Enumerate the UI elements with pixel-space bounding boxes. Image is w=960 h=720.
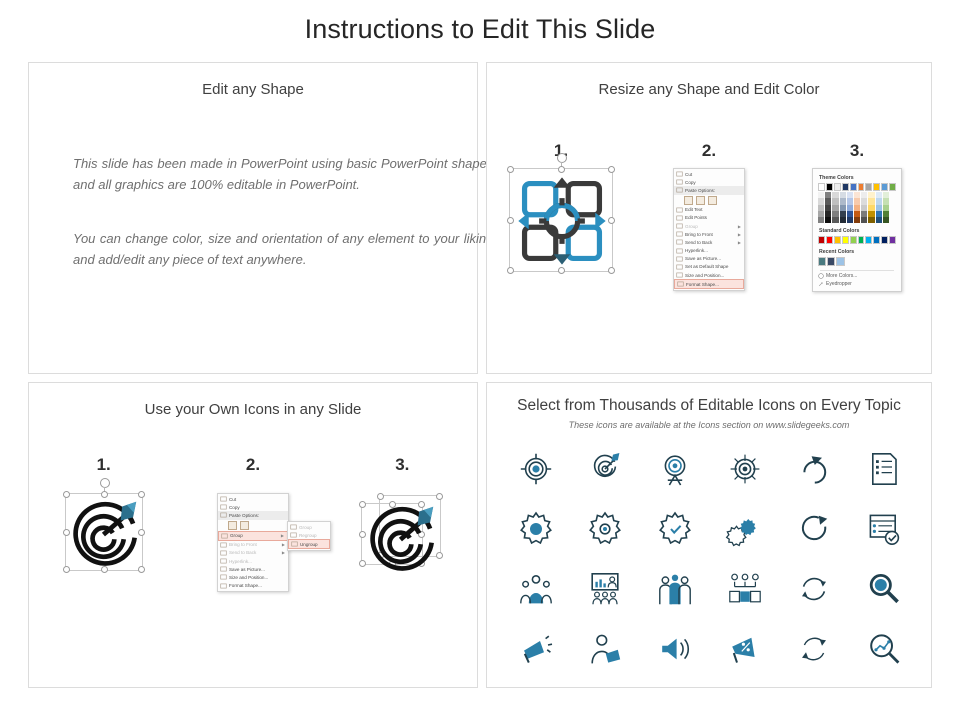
menu-item-ungroup[interactable]: Ungroup <box>288 539 330 549</box>
theme-color-column[interactable] <box>847 192 853 223</box>
icon-cell[interactable] <box>585 449 625 494</box>
standard-color-swatch[interactable] <box>865 236 872 244</box>
slide-canvas: Instructions to Edit This Slide Edit any… <box>0 0 960 720</box>
resize-handle[interactable] <box>507 217 514 224</box>
resize-step-figures: CutCopyPaste Options:Edit TextEdit Point… <box>487 168 931 292</box>
powerpoint-context-menu[interactable]: CutCopyPaste Options:Group▶Bring to Fron… <box>217 493 289 592</box>
resize-handle[interactable] <box>101 566 108 573</box>
menu-item-label: Group <box>299 525 327 530</box>
cycle-arrows-thin-icon <box>794 629 834 669</box>
menu-item-label: Size and Position... <box>229 575 285 580</box>
menu-item-format-shape[interactable]: Format Shape... <box>674 279 744 289</box>
panel-editable-icons: Select from Thousands of Editable Icons … <box>486 382 932 688</box>
paste-option-icon[interactable] <box>708 196 717 205</box>
panel-title-own-icons: Use your Own Icons in any Slide <box>29 401 477 418</box>
theme-color-swatch[interactable] <box>854 217 860 223</box>
color-picker-panel[interactable]: Theme Colors Standard Colors Recent Colo… <box>812 168 902 292</box>
menu-item-label: Hyperlink... <box>685 248 741 253</box>
panel-resize-shape-edit-color: Resize any Shape and Edit Color 1. 2. 3. <box>486 62 932 374</box>
icon-cell[interactable] <box>585 569 625 614</box>
refresh-circle-icon <box>794 509 834 549</box>
recent-colors-label: Recent Colors <box>819 249 896 255</box>
ungrouped-selection-group[interactable] <box>357 493 447 579</box>
submenu-arrow-icon: ▶ <box>281 533 284 538</box>
theme-color-column[interactable] <box>818 192 824 223</box>
save-picture-icon <box>676 256 683 262</box>
theme-color-swatch[interactable] <box>881 183 888 191</box>
panel-use-own-icons: Use your Own Icons in any Slide 1. 2. 3. <box>28 382 478 688</box>
menu-item-label: Paste Options: <box>685 188 741 193</box>
resize-handle[interactable] <box>608 267 615 274</box>
group-icon <box>676 223 683 229</box>
gear-outline-icon <box>585 509 625 549</box>
own-icons-step-figures: CutCopyPaste Options:Group▶Bring to Fron… <box>29 493 477 592</box>
target-crosshair-icon <box>516 449 556 489</box>
menu-item-save-as-picture[interactable]: Save as Picture... <box>674 255 744 263</box>
menu-item-label: Set as Default Shape <box>685 264 741 269</box>
standard-color-swatch[interactable] <box>858 236 865 244</box>
checklist-document-icon <box>864 449 904 489</box>
scissors-icon <box>676 171 683 177</box>
step-2: 2. <box>635 141 783 161</box>
resize-handle[interactable] <box>138 529 145 536</box>
icon-cell[interactable] <box>794 509 834 554</box>
eyedropper-item[interactable]: Eyedropper <box>818 281 896 287</box>
eyedropper-label: Eyedropper <box>826 281 852 287</box>
menu-item-label: Bring to Front <box>229 542 282 547</box>
paste-icon <box>676 187 683 193</box>
standard-color-swatch[interactable] <box>834 236 841 244</box>
menu-item-paste-options[interactable]: Paste Options: <box>674 186 744 194</box>
menu-item-label: Group <box>230 533 281 538</box>
target-stand-icon <box>655 449 695 489</box>
figure-group-menu[interactable]: CutCopyPaste Options:Group▶Bring to Fron… <box>178 493 327 592</box>
recent-colors-row[interactable] <box>818 257 896 265</box>
theme-color-swatch[interactable] <box>883 217 889 223</box>
speaker-sound-icon <box>655 629 695 669</box>
theme-colors-base-row[interactable] <box>818 183 896 191</box>
step-2: 2. <box>178 455 327 475</box>
menu-item-cut[interactable]: Cut <box>218 495 288 503</box>
panel-subtitle-icons-source: These icons are available at the Icons s… <box>487 420 931 430</box>
standard-colors-row[interactable] <box>818 236 896 244</box>
icon-cell[interactable] <box>585 629 625 674</box>
icon-cell[interactable] <box>516 569 556 614</box>
resize-handle[interactable] <box>558 166 565 173</box>
send-back-icon <box>676 239 683 245</box>
icon-cell[interactable] <box>516 449 556 494</box>
theme-color-swatch[interactable] <box>868 217 874 223</box>
paragraph-two: You can change color, size and orientati… <box>73 228 497 270</box>
person-megaphone-icon <box>585 629 625 669</box>
theme-color-column[interactable] <box>868 192 874 223</box>
group-menu-wrapper: CutCopyPaste Options:Group▶Bring to Fron… <box>217 493 289 592</box>
menu-item-label: Save as Picture... <box>229 567 285 572</box>
dartboard-arrow-icon <box>363 499 441 577</box>
format-shape-icon <box>220 583 227 589</box>
more-colors-item[interactable]: More Colors... <box>818 273 896 279</box>
megaphone-icon <box>516 629 556 669</box>
bring-front-icon <box>220 542 227 548</box>
step-3: 3. <box>783 141 931 161</box>
icon-cell[interactable] <box>725 569 765 614</box>
resize-handle[interactable] <box>558 267 565 274</box>
icon-cell[interactable] <box>516 629 556 674</box>
menu-item-group: Group▶ <box>674 222 744 230</box>
send-back-icon <box>220 550 227 556</box>
icon-gallery-grid <box>501 441 919 681</box>
standard-color-swatch[interactable] <box>818 236 825 244</box>
scissors-icon <box>220 496 227 502</box>
own-icons-step-numbers: 1. 2. 3. <box>29 455 477 475</box>
theme-color-column[interactable] <box>832 192 838 223</box>
team-leader-icon <box>516 569 556 609</box>
gear-solid-icon <box>516 509 556 549</box>
menu-item-edit-points[interactable]: Edit Points <box>674 214 744 222</box>
resize-handle[interactable] <box>63 566 70 573</box>
submenu-arrow-icon: ▶ <box>738 240 741 245</box>
theme-color-column[interactable] <box>825 192 831 223</box>
panel-title-editable-icons: Select from Thousands of Editable Icons … <box>487 397 931 415</box>
ungroup-icon <box>291 541 298 547</box>
icon-cell[interactable] <box>864 629 904 674</box>
menu-item-group[interactable]: Group▶ <box>218 531 288 541</box>
menu-item-label: Copy <box>685 180 741 185</box>
resize-handle[interactable] <box>138 566 145 573</box>
eyedropper-icon <box>818 281 824 287</box>
palette-icon <box>818 273 824 279</box>
panel-title-resize-shape: Resize any Shape and Edit Color <box>487 81 931 98</box>
theme-color-column[interactable] <box>876 192 882 223</box>
hyperlink-icon <box>220 558 227 564</box>
gear-check-icon <box>655 509 695 549</box>
menu-item-size-and-position[interactable]: Size and Position... <box>218 573 288 581</box>
four-quadrant-shape-icon <box>510 169 614 273</box>
standard-color-swatch[interactable] <box>826 236 833 244</box>
menu-item-copy[interactable]: Copy <box>218 503 288 511</box>
menu-item-label: Cut <box>229 497 285 502</box>
org-chart-team-icon <box>725 569 765 609</box>
menu-item-size-and-position[interactable]: Size and Position... <box>674 271 744 279</box>
step-number: 1. <box>97 455 111 474</box>
theme-color-column[interactable] <box>861 192 867 223</box>
menu-item-label: Send to Back <box>229 550 282 555</box>
paste-option-icon[interactable] <box>696 196 705 205</box>
copy-icon <box>676 179 683 185</box>
dartboard-arrow-icon <box>585 449 625 489</box>
icon-selection-box[interactable] <box>65 493 143 571</box>
icon-cell[interactable] <box>655 629 695 674</box>
figure-color-picker[interactable]: Theme Colors Standard Colors Recent Colo… <box>783 168 931 292</box>
theme-color-column[interactable] <box>883 192 889 223</box>
save-picture-icon <box>220 566 227 572</box>
icon-cell[interactable] <box>655 449 695 494</box>
presentation-audience-icon <box>585 569 625 609</box>
step-1: 1. <box>29 455 178 475</box>
figure-context-menu[interactable]: CutCopyPaste Options:Edit TextEdit Point… <box>635 168 783 292</box>
theme-color-swatch[interactable] <box>834 183 841 191</box>
paragraph-one: This slide has been made in PowerPoint u… <box>73 153 497 195</box>
theme-color-swatch[interactable] <box>889 183 896 191</box>
figure-selected-shape[interactable] <box>487 168 635 292</box>
more-colors-label: More Colors... <box>826 273 857 279</box>
copy-icon <box>220 504 227 510</box>
submenu-arrow-icon: ▶ <box>738 232 741 237</box>
icon-cell[interactable] <box>585 509 625 554</box>
gears-pair-icon <box>725 509 765 549</box>
recent-color-swatch[interactable] <box>827 257 835 265</box>
magnifier-chart-icon <box>864 629 904 669</box>
panel-title-edit-shape: Edit any Shape <box>29 81 477 98</box>
menu-item-edit-text[interactable]: Edit Text <box>674 206 744 214</box>
magnifier-icon <box>864 569 904 609</box>
megaphone-percent-icon <box>725 629 765 669</box>
team-group-icon <box>655 569 695 609</box>
standard-color-swatch[interactable] <box>881 236 888 244</box>
theme-color-swatch[interactable] <box>847 217 853 223</box>
bring-front-icon <box>676 231 683 237</box>
submenu-arrow-icon: ▶ <box>282 542 285 547</box>
theme-color-swatch[interactable] <box>825 217 831 223</box>
paste-option-icon[interactable] <box>228 521 237 530</box>
format-shape-icon <box>677 281 684 287</box>
menu-item-label: Ungroup <box>300 542 326 547</box>
menu-item-group: Group <box>288 523 330 531</box>
menu-item-label: Bring to Front <box>685 232 738 237</box>
paste-option-buttons[interactable] <box>218 520 288 531</box>
resize-handle[interactable] <box>138 491 145 498</box>
theme-colors-label: Theme Colors <box>819 175 896 181</box>
recent-color-swatch[interactable] <box>836 257 844 265</box>
menu-item-save-as-picture[interactable]: Save as Picture... <box>218 565 288 573</box>
icon-cell[interactable] <box>864 449 904 494</box>
checklist-approved-icon <box>864 509 904 549</box>
resize-handle[interactable] <box>507 166 514 173</box>
step-number: 2. <box>702 141 716 160</box>
regroup-icon <box>290 532 297 538</box>
theme-color-column[interactable] <box>840 192 846 223</box>
menu-item-bring-to-front[interactable]: Bring to Front▶ <box>674 230 744 238</box>
icon-cell[interactable] <box>794 449 834 494</box>
menu-item-label: Format Shape... <box>686 282 740 287</box>
menu-item-label: Group <box>685 224 738 229</box>
rotate-clockwise-icon <box>794 449 834 489</box>
step-number: 2. <box>246 455 260 474</box>
paste-option-buttons[interactable] <box>674 195 744 206</box>
edit-points-icon <box>676 215 683 221</box>
icon-cell[interactable] <box>725 629 765 674</box>
default-shape-icon <box>676 264 683 270</box>
menu-item-label: Edit Text <box>685 207 741 212</box>
group-submenu[interactable]: GroupRegroupUngroup <box>287 521 331 551</box>
submenu-arrow-icon: ▶ <box>738 224 741 229</box>
icon-cell[interactable] <box>794 569 834 614</box>
menu-item-label: Edit Points <box>685 215 741 220</box>
menu-item-label: Cut <box>685 172 741 177</box>
rotate-handle-icon[interactable] <box>100 478 110 488</box>
paste-option-icon[interactable] <box>240 521 249 530</box>
icon-cell[interactable] <box>794 629 834 674</box>
resize-handle[interactable] <box>101 491 108 498</box>
menu-item-paste-options[interactable]: Paste Options: <box>218 511 288 519</box>
theme-color-swatch[interactable] <box>861 217 867 223</box>
icon-cell[interactable] <box>864 509 904 554</box>
icon-cell[interactable] <box>725 509 765 554</box>
size-position-icon <box>220 574 227 580</box>
menu-item-regroup: Regroup <box>288 531 330 539</box>
menu-item-set-as-default-shape[interactable]: Set as Default Shape <box>674 263 744 271</box>
menu-item-hyperlink[interactable]: Hyperlink... <box>674 247 744 255</box>
icon-cell[interactable] <box>864 569 904 614</box>
recent-color-swatch[interactable] <box>818 257 826 265</box>
crosshair-target-icon <box>725 449 765 489</box>
figure-ungrouped-icon[interactable] <box>328 493 477 592</box>
theme-color-swatch[interactable] <box>873 183 880 191</box>
step-number: 3. <box>395 455 409 474</box>
size-position-icon <box>676 272 683 278</box>
standard-color-swatch[interactable] <box>889 236 896 244</box>
cycle-arrows-icon <box>794 569 834 609</box>
rotate-handle-icon[interactable] <box>557 153 567 163</box>
resize-handle[interactable] <box>608 217 615 224</box>
resize-handle[interactable] <box>63 491 70 498</box>
standard-color-swatch[interactable] <box>850 236 857 244</box>
resize-step-numbers: 1. 2. 3. <box>487 141 931 161</box>
menu-item-send-to-back: Send to Back▶ <box>218 549 288 557</box>
menu-item-send-to-back[interactable]: Send to Back▶ <box>674 238 744 246</box>
menu-item-label: Send to Back <box>685 240 738 245</box>
menu-item-label: Paste Options: <box>229 513 285 518</box>
theme-color-swatch[interactable] <box>826 183 833 191</box>
menu-item-copy[interactable]: Copy <box>674 178 744 186</box>
paste-icon <box>220 512 227 518</box>
menu-item-label: Format Shape... <box>229 583 285 588</box>
theme-color-swatch[interactable] <box>840 217 846 223</box>
icon-cell[interactable] <box>516 509 556 554</box>
standard-color-swatch[interactable] <box>873 236 880 244</box>
menu-item-label: Regroup <box>299 533 327 538</box>
standard-colors-label: Standard Colors <box>819 228 896 234</box>
edit-text-icon <box>676 207 683 213</box>
step-number: 3. <box>850 141 864 160</box>
theme-color-swatch[interactable] <box>865 183 872 191</box>
powerpoint-context-menu[interactable]: CutCopyPaste Options:Edit TextEdit Point… <box>673 168 745 291</box>
menu-item-hyperlink: Hyperlink... <box>218 557 288 565</box>
menu-item-label: Hyperlink... <box>229 559 285 564</box>
theme-color-swatch[interactable] <box>858 183 865 191</box>
icon-cell[interactable] <box>725 449 765 494</box>
paste-option-icon[interactable] <box>684 196 693 205</box>
menu-item-label: Save as Picture... <box>685 256 741 261</box>
theme-color-swatch[interactable] <box>842 183 849 191</box>
dartboard-arrow-icon <box>66 494 144 572</box>
submenu-arrow-icon: ▶ <box>282 550 285 555</box>
icon-cell[interactable] <box>655 509 695 554</box>
group-icon <box>221 533 228 539</box>
group-icon <box>290 524 297 530</box>
theme-color-swatch[interactable] <box>832 217 838 223</box>
theme-color-column[interactable] <box>854 192 860 223</box>
standard-color-swatch[interactable] <box>842 236 849 244</box>
menu-item-label: Size and Position... <box>685 273 741 278</box>
figure-grouped-icon[interactable] <box>29 493 178 592</box>
menu-item-format-shape[interactable]: Format Shape... <box>218 582 288 590</box>
menu-item-bring-to-front: Bring to Front▶ <box>218 541 288 549</box>
resize-handle[interactable] <box>63 529 70 536</box>
resize-handle[interactable] <box>608 166 615 173</box>
icon-cell[interactable] <box>655 569 695 614</box>
theme-color-swatch[interactable] <box>850 183 857 191</box>
shape-selection-box[interactable] <box>509 168 613 272</box>
menu-item-cut[interactable]: Cut <box>674 170 744 178</box>
resize-handle[interactable] <box>507 267 514 274</box>
theme-color-swatch[interactable] <box>876 217 882 223</box>
step-3: 3. <box>328 455 477 475</box>
theme-color-swatch[interactable] <box>818 217 824 223</box>
page-title: Instructions to Edit This Slide <box>0 14 960 45</box>
menu-item-label: Copy <box>229 505 285 510</box>
theme-color-swatch[interactable] <box>818 183 825 191</box>
panel-edit-any-shape: Edit any Shape This slide has been made … <box>28 62 478 374</box>
theme-colors-variants[interactable] <box>818 192 896 223</box>
hyperlink-icon <box>676 248 683 254</box>
